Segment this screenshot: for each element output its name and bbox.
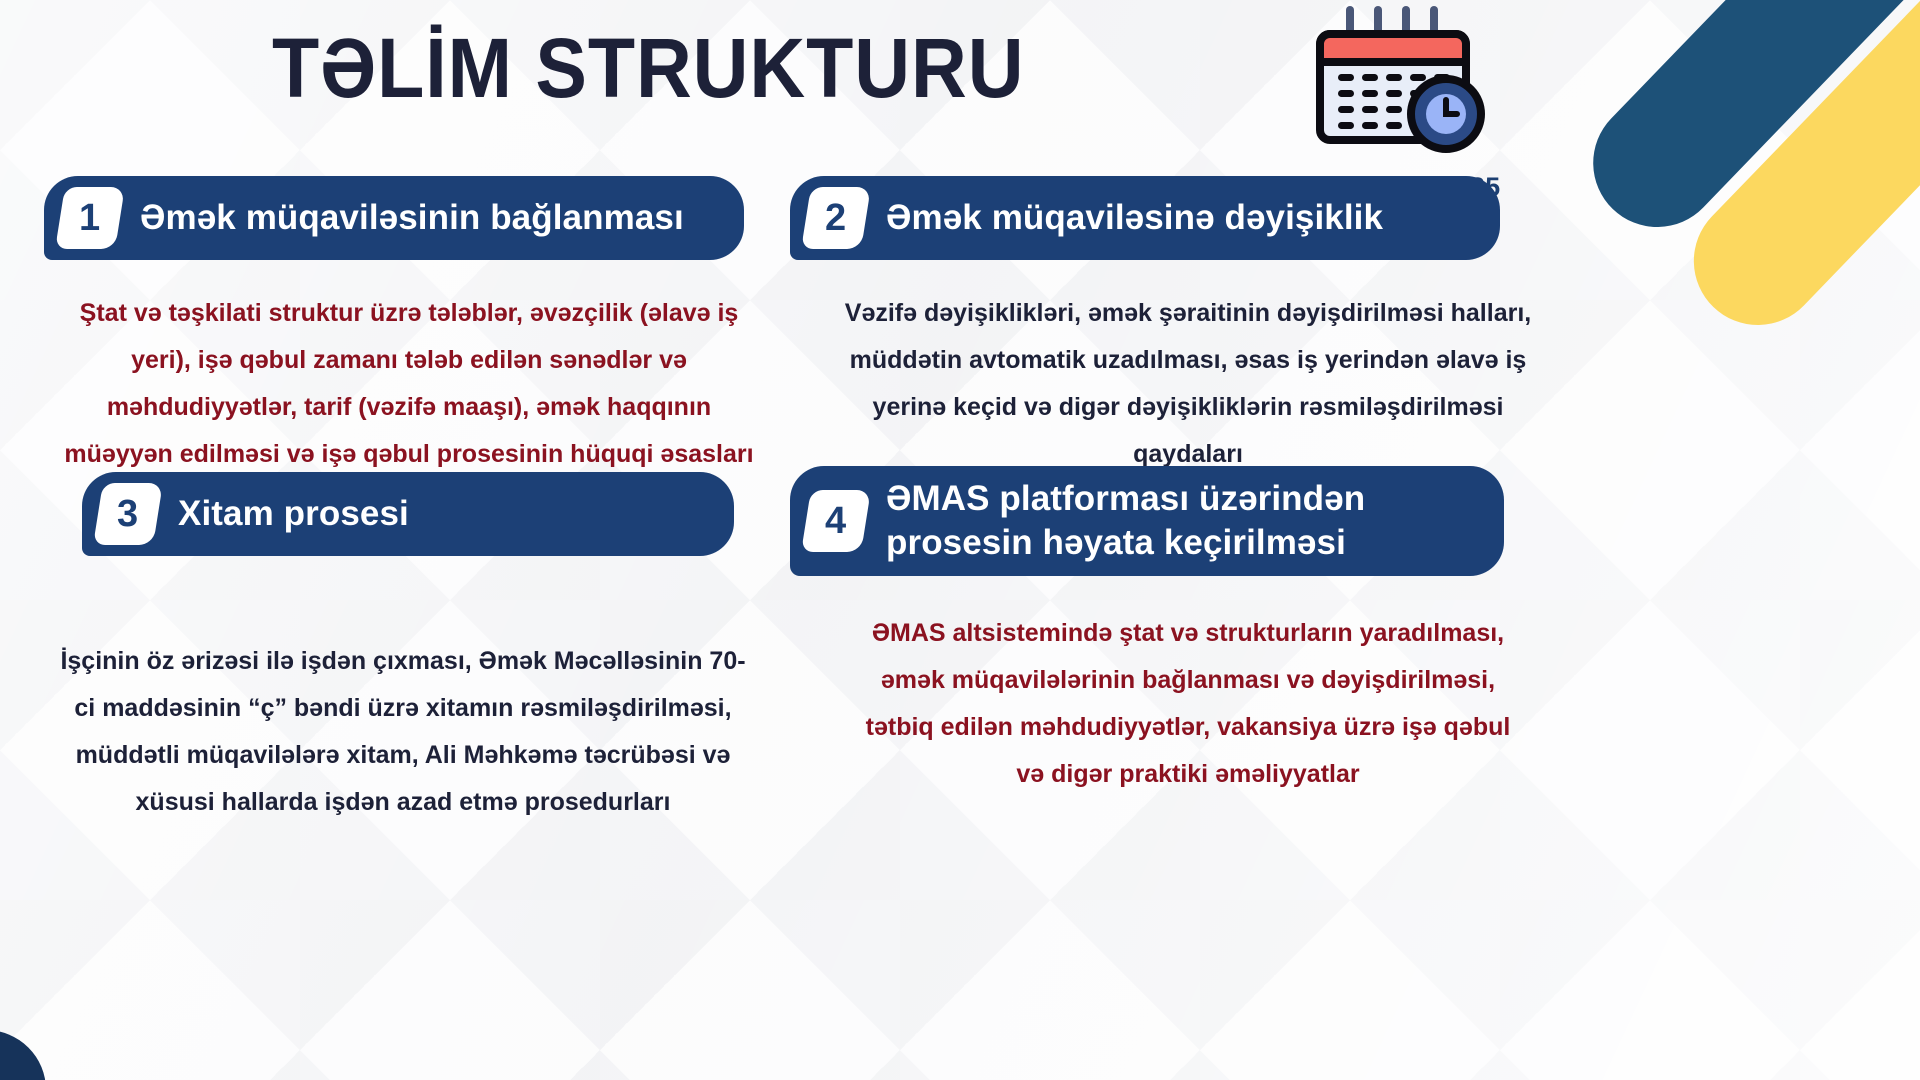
card-2-body: Vəzifə dəyişiklikləri, əmək şəraitinin d… xyxy=(808,290,1568,478)
card-2-number: 2 xyxy=(825,199,846,237)
card-1-number-badge: 1 xyxy=(55,187,125,249)
card-1-header[interactable]: 1 Əmək müqaviləsinin bağlanması xyxy=(44,176,744,260)
card-4-number-badge: 4 xyxy=(801,490,871,552)
card-2-title: Əmək müqaviləsinə dəyişiklik xyxy=(886,196,1383,240)
card-2-number-badge: 2 xyxy=(801,187,871,249)
card-4: 4 ƏMAS platforması üzərindən prosesin hə… xyxy=(790,466,1504,798)
card-3-header[interactable]: 3 Xitam prosesi xyxy=(82,472,734,556)
card-1-title: Əmək müqaviləsinin bağlanması xyxy=(140,196,684,240)
card-3-number-badge: 3 xyxy=(93,483,163,545)
decorative-corner-circle xyxy=(0,1030,46,1080)
card-3-body: İşçinin öz ərizəsi ilə işdən çıxması, Əm… xyxy=(38,638,768,826)
page-title: TƏLİM STRUKTURU xyxy=(272,22,1024,114)
card-1-body: Ştat və təşkilati struktur üzrə tələblər… xyxy=(46,290,772,478)
card-3-number: 3 xyxy=(117,495,138,533)
card-1-number: 1 xyxy=(79,199,100,237)
calendar-clock-icon xyxy=(1312,4,1492,154)
card-3-title: Xitam prosesi xyxy=(178,492,409,536)
card-4-header[interactable]: 4 ƏMAS platforması üzərindən prosesin hə… xyxy=(790,466,1504,576)
card-3: 3 Xitam prosesi İşçinin öz ərizəsi ilə i… xyxy=(82,472,734,826)
content-layer: TƏLİM STRUKTURU xyxy=(0,0,1920,1080)
card-2: 2 Əmək müqaviləsinə dəyişiklik Vəzifə də… xyxy=(790,176,1500,478)
card-4-number: 4 xyxy=(825,502,846,540)
card-4-body: ƏMAS altsistemində ştat və strukturların… xyxy=(838,610,1538,798)
card-1: 1 Əmək müqaviləsinin bağlanması Ştat və … xyxy=(44,176,744,478)
card-2-header[interactable]: 2 Əmək müqaviləsinə dəyişiklik xyxy=(790,176,1500,260)
card-4-title: ƏMAS platforması üzərindən prosesin həya… xyxy=(886,477,1470,565)
